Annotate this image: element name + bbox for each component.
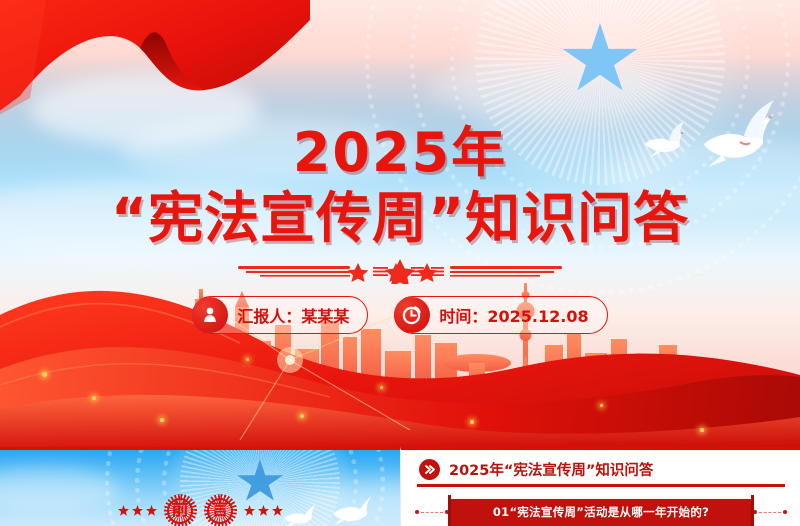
dash-dot-right-2 <box>783 510 787 514</box>
presenter-pill[interactable]: 汇报人：某某某 <box>192 296 368 334</box>
preface-slide[interactable]: 前 言 <box>0 447 400 526</box>
star-icon <box>244 505 255 516</box>
sparkle-icon <box>42 372 47 377</box>
cover-slide[interactable]: 2025年 “宪法宣传周”知识问答 <box>0 0 800 447</box>
gear-seal-icon-qian: 前 <box>164 494 197 526</box>
double-chevron-icon <box>419 459 440 480</box>
presenter-label: 汇报人：某某某 <box>237 303 349 327</box>
quiz-header-title: 2025年“宪法宣传周”知识问答 <box>449 459 653 480</box>
sparkle-icon <box>600 404 603 407</box>
star-group-left <box>118 505 157 516</box>
dash-line-right <box>759 512 781 513</box>
cover-title-line2: “宪法宣传周”知识问答 <box>0 173 800 253</box>
star-line-divider-icon <box>0 256 800 286</box>
quiz-slide[interactable]: 2025年“宪法宣传周”知识问答 01“宪法宣传周”活动是从哪一年开始的? <box>400 447 800 526</box>
quiz-header-rule <box>417 484 785 487</box>
dash-line-left <box>421 512 443 513</box>
slide-deck: 2025年 “宪法宣传周”知识问答 <box>0 0 800 526</box>
seal-char-1: 前 <box>172 502 189 519</box>
star-icon <box>272 505 283 516</box>
sparkle-icon <box>700 428 704 432</box>
date-label: 时间：2025.12.08 <box>439 303 588 327</box>
star-icon <box>118 505 129 516</box>
cover-meta-row: 汇报人：某某某 时间：2025.12.08 <box>0 296 800 334</box>
star-icon <box>132 505 143 516</box>
quiz-header: 2025年“宪法宣传周”知识问答 <box>419 459 653 480</box>
star-icon <box>258 505 269 516</box>
star-group-right <box>244 505 283 516</box>
question-bar[interactable]: 01“宪法宣传周”活动是从哪一年开始的? <box>451 499 751 526</box>
seal-char-2: 言 <box>212 502 229 519</box>
clock-icon <box>394 297 430 333</box>
question-row: 01“宪法宣传周”活动是从哪一年开始的? <box>401 495 800 526</box>
sparkle-icon <box>92 396 96 400</box>
date-pill[interactable]: 时间：2025.12.08 <box>394 296 607 334</box>
sparkle-icon <box>246 358 249 361</box>
question-text: 01“宪法宣传周”活动是从哪一年开始的? <box>493 504 709 520</box>
sparkle-icon <box>380 386 383 389</box>
person-icon <box>192 297 228 333</box>
preface-title-row: 前 言 <box>0 494 400 526</box>
sparkle-icon <box>160 418 164 422</box>
dash-dot-left <box>415 510 419 514</box>
star-icon <box>146 505 157 516</box>
sparkle-icon <box>470 420 474 424</box>
gear-seal-icon-yan: 言 <box>204 494 237 526</box>
sparkle-icon <box>300 414 304 418</box>
